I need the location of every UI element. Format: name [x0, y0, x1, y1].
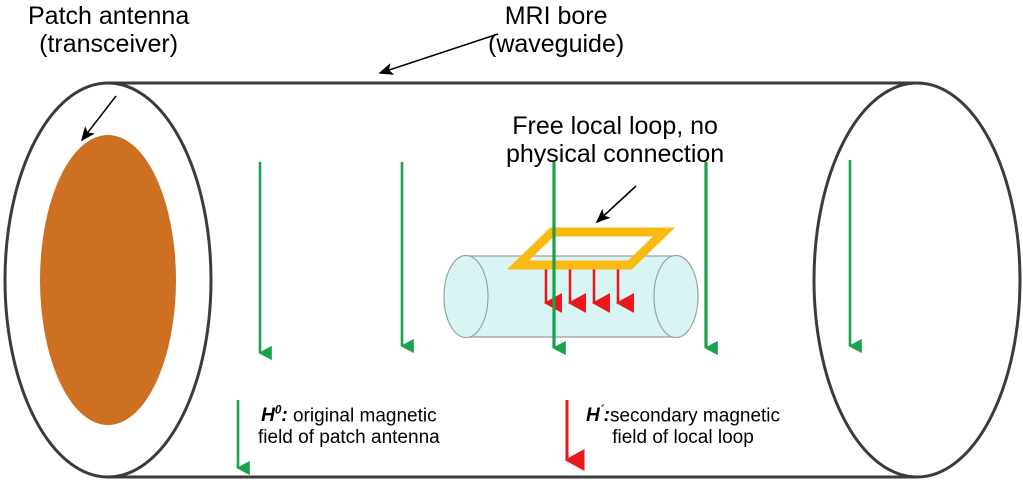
legend-h-prime-text1: secondary magnetic [610, 405, 780, 426]
patch-antenna-disc [40, 135, 176, 425]
legend-h-prime-line2: field of local loop [586, 427, 780, 448]
free-local-loop-label: Free local loop, no physical connection [506, 112, 724, 168]
diagram-graphics [0, 0, 1023, 483]
h0-field-arrows [260, 160, 850, 353]
mri-bore-label: MRI bore (waveguide) [488, 2, 624, 58]
legend-h0-symbol: H0: [261, 405, 288, 426]
legend-h-prime-line1: H´:secondary magnetic [586, 404, 780, 427]
legend-item-h0: H0: original magnetic field of patch ant… [258, 404, 440, 448]
free-local-loop-label-line2: physical connection [506, 140, 724, 168]
free-local-loop-label-line1: Free local loop, no [506, 112, 724, 140]
patch-antenna-label-line2: (transceiver) [28, 30, 189, 58]
legend-h0-line2: field of patch antenna [258, 427, 440, 448]
mri-bore-label-line2: (waveguide) [488, 30, 624, 58]
patch-antenna-label-line1: Patch antenna [28, 2, 189, 30]
free-loop-leader [597, 186, 636, 222]
patch-antenna-label: Patch antenna (transceiver) [28, 2, 189, 58]
bore-right-ellipse [814, 83, 1020, 477]
legend-item-h-prime: H´:secondary magnetic field of local loo… [586, 404, 780, 448]
legend-h0-line1: H0: original magnetic [258, 404, 440, 427]
mri-bore-leader [380, 34, 498, 73]
phantom-right-cap [654, 256, 698, 338]
mri-bore-label-line1: MRI bore [488, 2, 624, 30]
mri-bore-diagram: Patch antenna (transceiver) MRI bore (wa… [0, 0, 1023, 483]
legend-h-prime-symbol: H´: [586, 405, 610, 426]
legend-h0-text1: original magnetic [288, 405, 437, 426]
phantom-left-cap [444, 256, 488, 338]
